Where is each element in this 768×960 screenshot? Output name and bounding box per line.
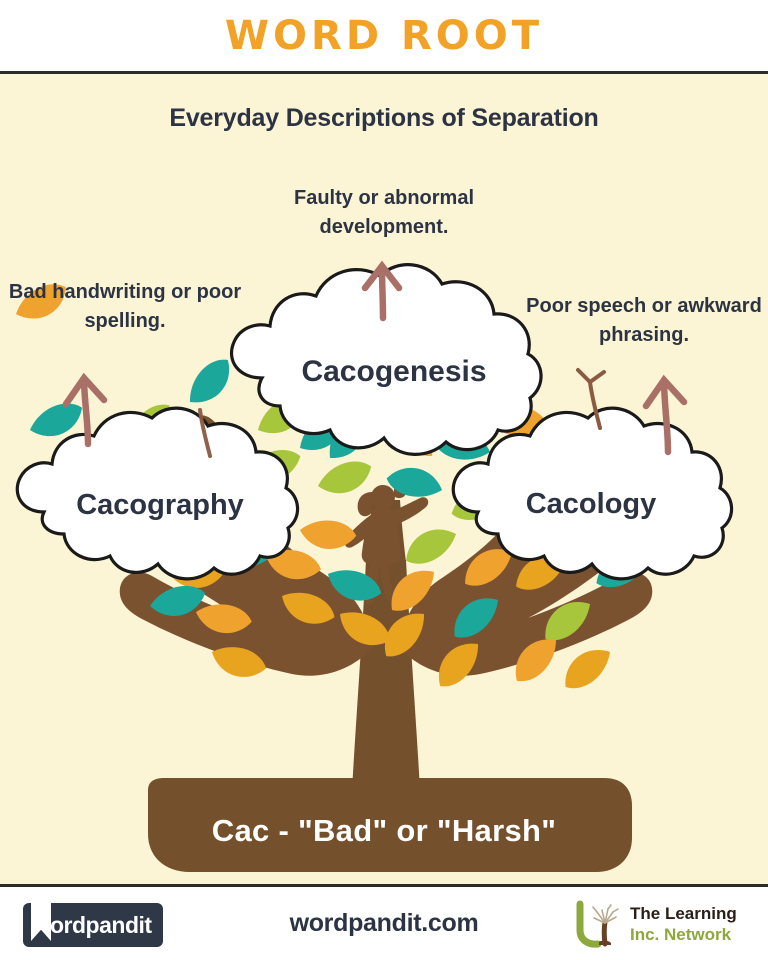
tree-illustration (0, 0, 768, 884)
root-banner-label: Cac - "Bad" or "Harsh" (0, 813, 768, 849)
partner-line-1: The Learning (630, 903, 737, 924)
learning-inc-network-text: The Learning Inc. Network (630, 903, 737, 946)
callout-label-right: Poor speech or awkward phrasing. (520, 292, 768, 350)
infographic-poster: WORD ROOT Everyday Descriptions of Separ… (0, 0, 768, 960)
learning-inc-network-logo[interactable]: The Learning Inc. Network (574, 900, 752, 948)
wordpandit-logo-text: ordpandit (50, 912, 152, 939)
callout-label-left: Bad handwriting or poor spelling. (0, 278, 250, 336)
cloud-label-cacology: Cacology (462, 488, 720, 521)
wordpandit-logo[interactable]: ordpandit (23, 903, 163, 947)
bookmark-icon (31, 901, 51, 941)
cloud-label-cacography: Cacography (26, 489, 294, 522)
cloud-label-cacogenesis: Cacogenesis (252, 355, 536, 389)
tree-logo-icon (574, 900, 626, 948)
callout-label-top: Faulty or abnormal development. (234, 184, 534, 242)
footer-bar: ordpandit wordpandit.com The Learning In… (0, 884, 768, 960)
partner-line-2: Inc. Network (630, 924, 737, 945)
